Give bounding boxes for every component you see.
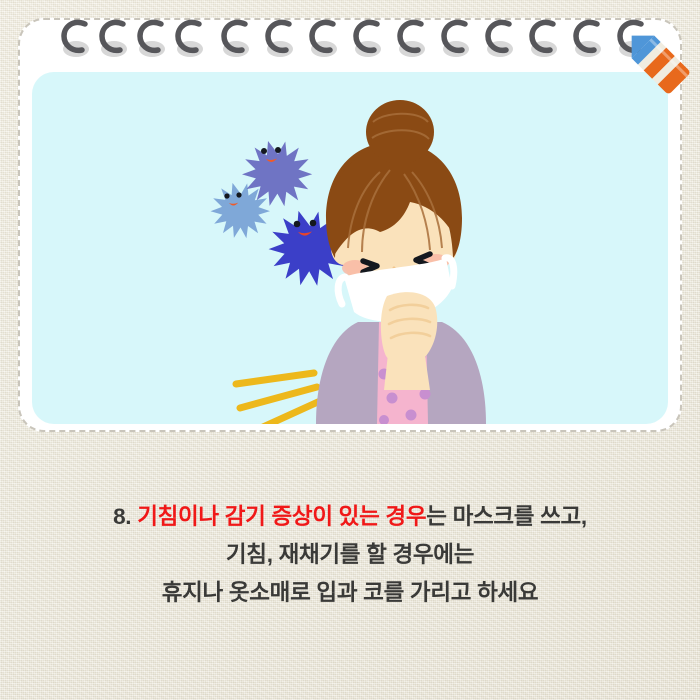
caption-line-3: 휴지나 옷소매로 입과 코를 가리고 하세요 [0, 574, 700, 612]
illustration-panel [32, 72, 668, 424]
caption-line1-highlight: 기침이나 감기 증상이 있는 경우 [137, 504, 426, 529]
hair-bun [366, 100, 434, 164]
crayon-icon[interactable] [612, 16, 698, 102]
illustration-svg [32, 72, 668, 424]
caption-line1-rest: 는 마스크를 쓰고, [426, 504, 587, 529]
caption-number: 8. [113, 504, 131, 529]
caption-line-1: 8. 기침이나 감기 증상이 있는 경우는 마스크를 쓰고, [0, 498, 700, 536]
caption-line-2: 기침, 재채기를 할 경우에는 [0, 536, 700, 574]
cough-action-lines [236, 373, 320, 424]
caption-block: 8. 기침이나 감기 증상이 있는 경우는 마스크를 쓰고, 기침, 재채기를 … [0, 498, 700, 612]
